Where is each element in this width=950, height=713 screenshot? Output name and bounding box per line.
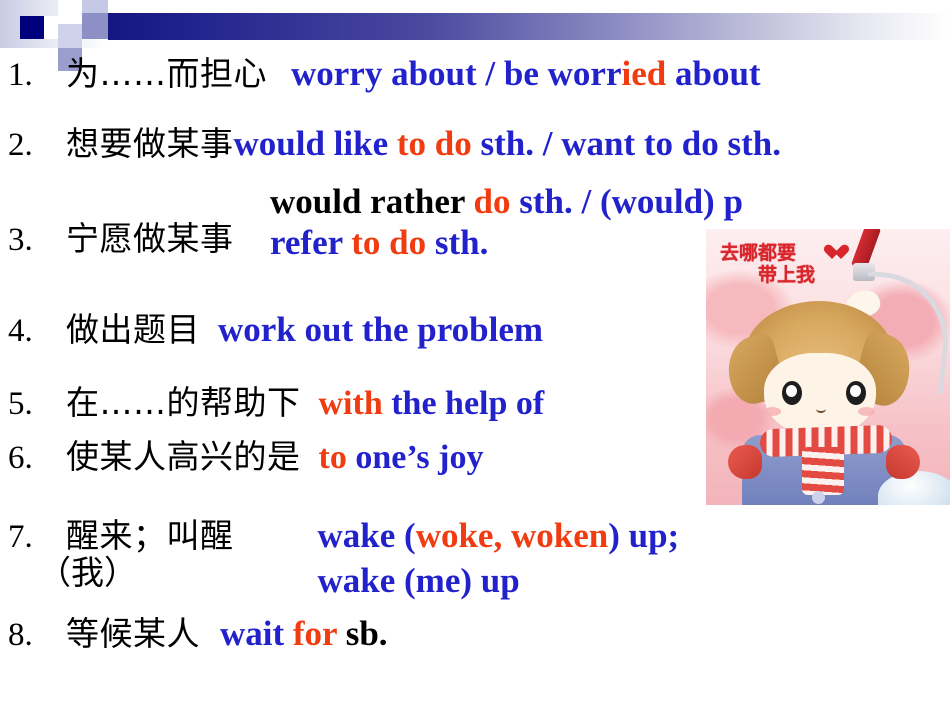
- coat-button: [812, 491, 825, 504]
- english-seg: work out the problem: [218, 310, 543, 349]
- scarf-tail: [802, 447, 844, 495]
- header-square-white-gap: [44, 16, 58, 39]
- vocab-row-7: 7. 醒来；叫醒 （我） wake (woke, woken) up; wake…: [8, 516, 679, 601]
- mouth: [816, 405, 826, 413]
- header-gradient-bar: [108, 13, 950, 40]
- item-chinese: 在……的帮助下: [66, 386, 301, 419]
- heart-icon: [824, 245, 841, 262]
- item-number: 5.: [8, 388, 66, 421]
- item-chinese-second-line: （我）: [38, 556, 137, 589]
- english-line-2: refer to do sth.: [270, 223, 743, 264]
- chibi-boy-image: 去哪都要 带上我: [706, 229, 950, 505]
- item-number: 2.: [8, 129, 66, 162]
- item-number: 3.: [8, 224, 66, 257]
- mitten-left: [728, 445, 762, 479]
- caption-line-1: 去哪都要: [720, 242, 796, 264]
- header-square-medium: [82, 13, 108, 39]
- eye-left: [782, 381, 802, 405]
- vocab-row-4: 4. 做出题目 work out the problem: [8, 312, 543, 348]
- english-seg: for: [293, 614, 346, 653]
- item-english: with the help of: [319, 387, 545, 421]
- item-chinese: 宁愿做某事: [66, 222, 234, 255]
- english-seg: would rather: [270, 182, 474, 221]
- english-seg: about: [666, 54, 760, 93]
- image-caption: 去哪都要 带上我: [720, 243, 815, 287]
- mitten-right: [886, 445, 920, 479]
- item-number: 4.: [8, 315, 66, 348]
- english-seg: wait: [220, 614, 293, 653]
- item-chinese: 做出题目: [66, 313, 200, 346]
- english-seg: ) up;: [608, 516, 679, 555]
- english-seg: the help of: [391, 385, 544, 422]
- item-english: would like to do sth. / want to do sth.: [234, 126, 782, 161]
- vocab-row-8: 8. 等候某人 wait for sb.: [8, 616, 388, 652]
- item-number: 8.: [8, 619, 66, 652]
- english-seg: do: [474, 182, 520, 221]
- item-number: 6.: [8, 442, 66, 475]
- vocab-row-3: 3. 宁愿做某事 would rather do sth. / (would) …: [8, 222, 234, 257]
- eye-right: [846, 381, 866, 405]
- english-seg: to do: [351, 223, 435, 262]
- english-seg: would like: [234, 124, 397, 163]
- item-english: to one’s joy: [319, 441, 484, 475]
- english-seg: ied: [622, 54, 667, 93]
- slide-header-decoration: [0, 0, 950, 55]
- english-seg: sth. / (would) p: [519, 182, 743, 221]
- header-square-navy: [20, 16, 44, 39]
- blush-right: [858, 407, 875, 416]
- english-seg: woke, woken: [416, 516, 609, 555]
- english-seg: sb.: [346, 614, 388, 653]
- header-square-light-top: [82, 0, 108, 13]
- caption-line-2: 带上我: [758, 265, 815, 287]
- english-seg: wake (: [318, 516, 416, 555]
- blush-left: [764, 407, 781, 416]
- item-english: would rather do sth. / (would) p refer t…: [270, 182, 743, 263]
- item-chinese: 等候某人: [66, 617, 200, 650]
- english-seg: with: [319, 385, 392, 422]
- english-seg: refer: [270, 223, 351, 262]
- item-english: wait for sb.: [220, 616, 388, 651]
- item-chinese: 为……而担心: [66, 57, 267, 90]
- english-seg: to: [319, 439, 356, 476]
- header-square-pale: [58, 24, 82, 48]
- item-english: worry about / be worried about: [291, 56, 761, 91]
- item-english: work out the problem: [218, 312, 543, 347]
- vocab-row-2: 2. 想要做某事 would like to do sth. / want to…: [8, 126, 781, 162]
- vocab-row-5: 5. 在……的帮助下 with the help of: [8, 386, 544, 421]
- vocab-row-1: 1. 为……而担心 worry about / be worried about: [8, 56, 761, 92]
- item-chinese: 醒来；叫醒: [66, 519, 234, 552]
- english-seg: sth.: [435, 223, 489, 262]
- header-square-white: [58, 0, 82, 24]
- english-line-1: would rather do sth. / (would) p: [270, 182, 743, 223]
- english-seg: to do: [397, 124, 481, 163]
- item-chinese: 想要做某事: [66, 127, 234, 160]
- item-number: 1.: [8, 59, 66, 92]
- english-seg: sth. / want to do sth.: [481, 124, 781, 163]
- english-seg: one’s joy: [355, 439, 483, 476]
- english-seg: worry about / be worr: [291, 54, 622, 93]
- english-seg: wake (me) up: [318, 561, 520, 600]
- item-number: 7.: [8, 521, 66, 554]
- vocab-row-6: 6. 使某人高兴的是 to one’s joy: [8, 440, 483, 475]
- english-line-1: wake (woke, woken) up;: [318, 516, 680, 557]
- item-english: wake (woke, woken) up; wake (me) up: [318, 516, 680, 601]
- item-chinese: 使某人高兴的是: [66, 440, 301, 473]
- english-line-2: wake (me) up: [318, 561, 680, 602]
